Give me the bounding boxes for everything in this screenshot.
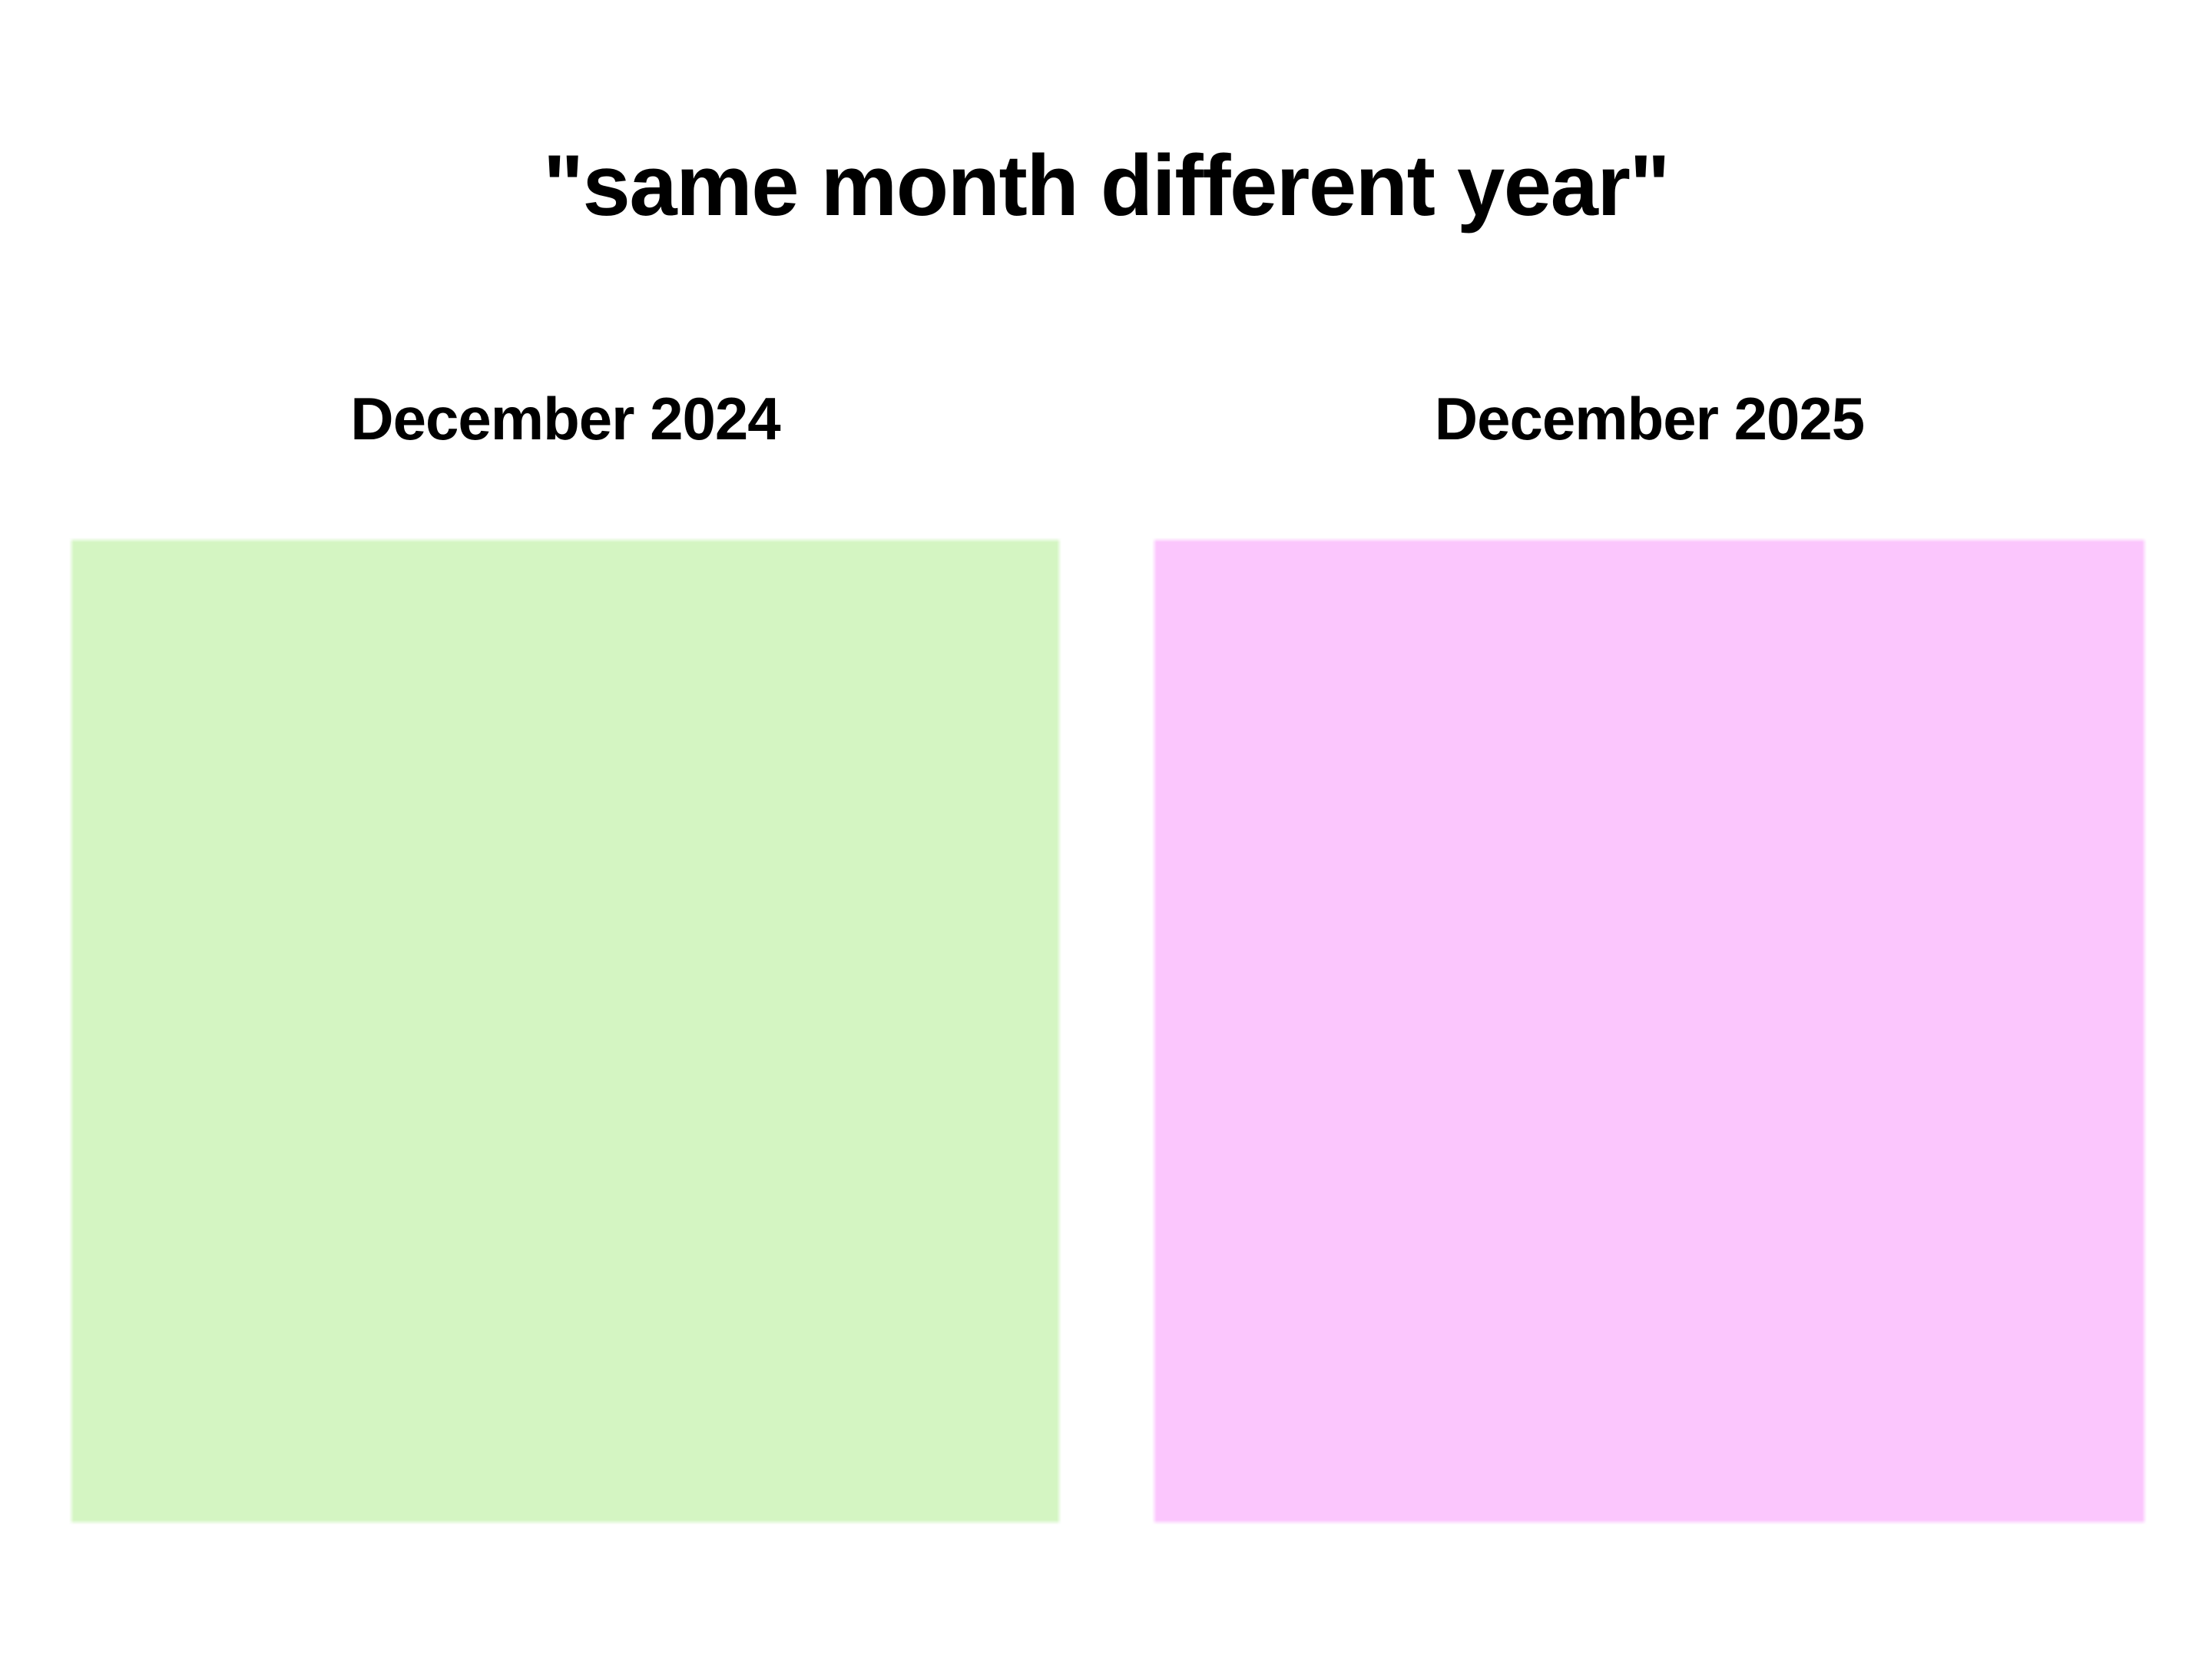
panel-caption-left: December 2024 xyxy=(69,389,1061,449)
meme-canvas: "same month different year" December 202… xyxy=(0,0,2212,1659)
panel-swatch-right xyxy=(1152,538,2147,1525)
panel-swatch-left xyxy=(69,538,1061,1525)
comparison-row: December 2024 December 2025 xyxy=(0,0,2212,1659)
panel-caption-right: December 2025 xyxy=(1152,389,2147,449)
